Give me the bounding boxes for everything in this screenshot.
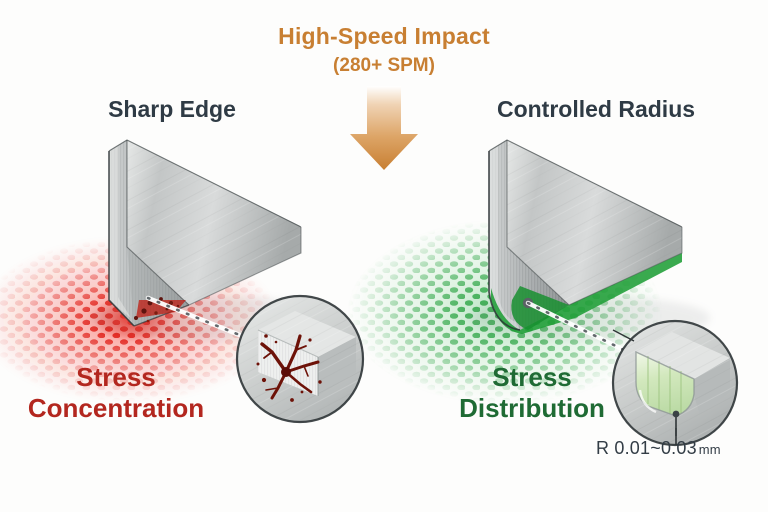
figure-canvas: High-Speed Impact (280+ SPM) Sharp Edge …: [0, 0, 768, 512]
right-panel-title: Controlled Radius: [424, 96, 768, 123]
left-panel-title: Sharp Edge: [0, 96, 344, 123]
down-arrow-icon: [350, 86, 418, 170]
controlled-radius-blade: [470, 140, 710, 340]
left-stress-caption: Stress Concentration: [0, 362, 232, 423]
radius-value: R 0.01~0.03: [596, 438, 697, 458]
impact-title: High-Speed Impact: [0, 22, 768, 51]
right-stress-caption: Stress Distribution: [420, 362, 644, 423]
impact-rate: (280+ SPM): [0, 55, 768, 77]
left-magnifier-inset: [237, 296, 363, 422]
radius-unit: mm: [699, 442, 721, 457]
radius-annotation: R 0.01~0.03mm: [596, 438, 721, 459]
